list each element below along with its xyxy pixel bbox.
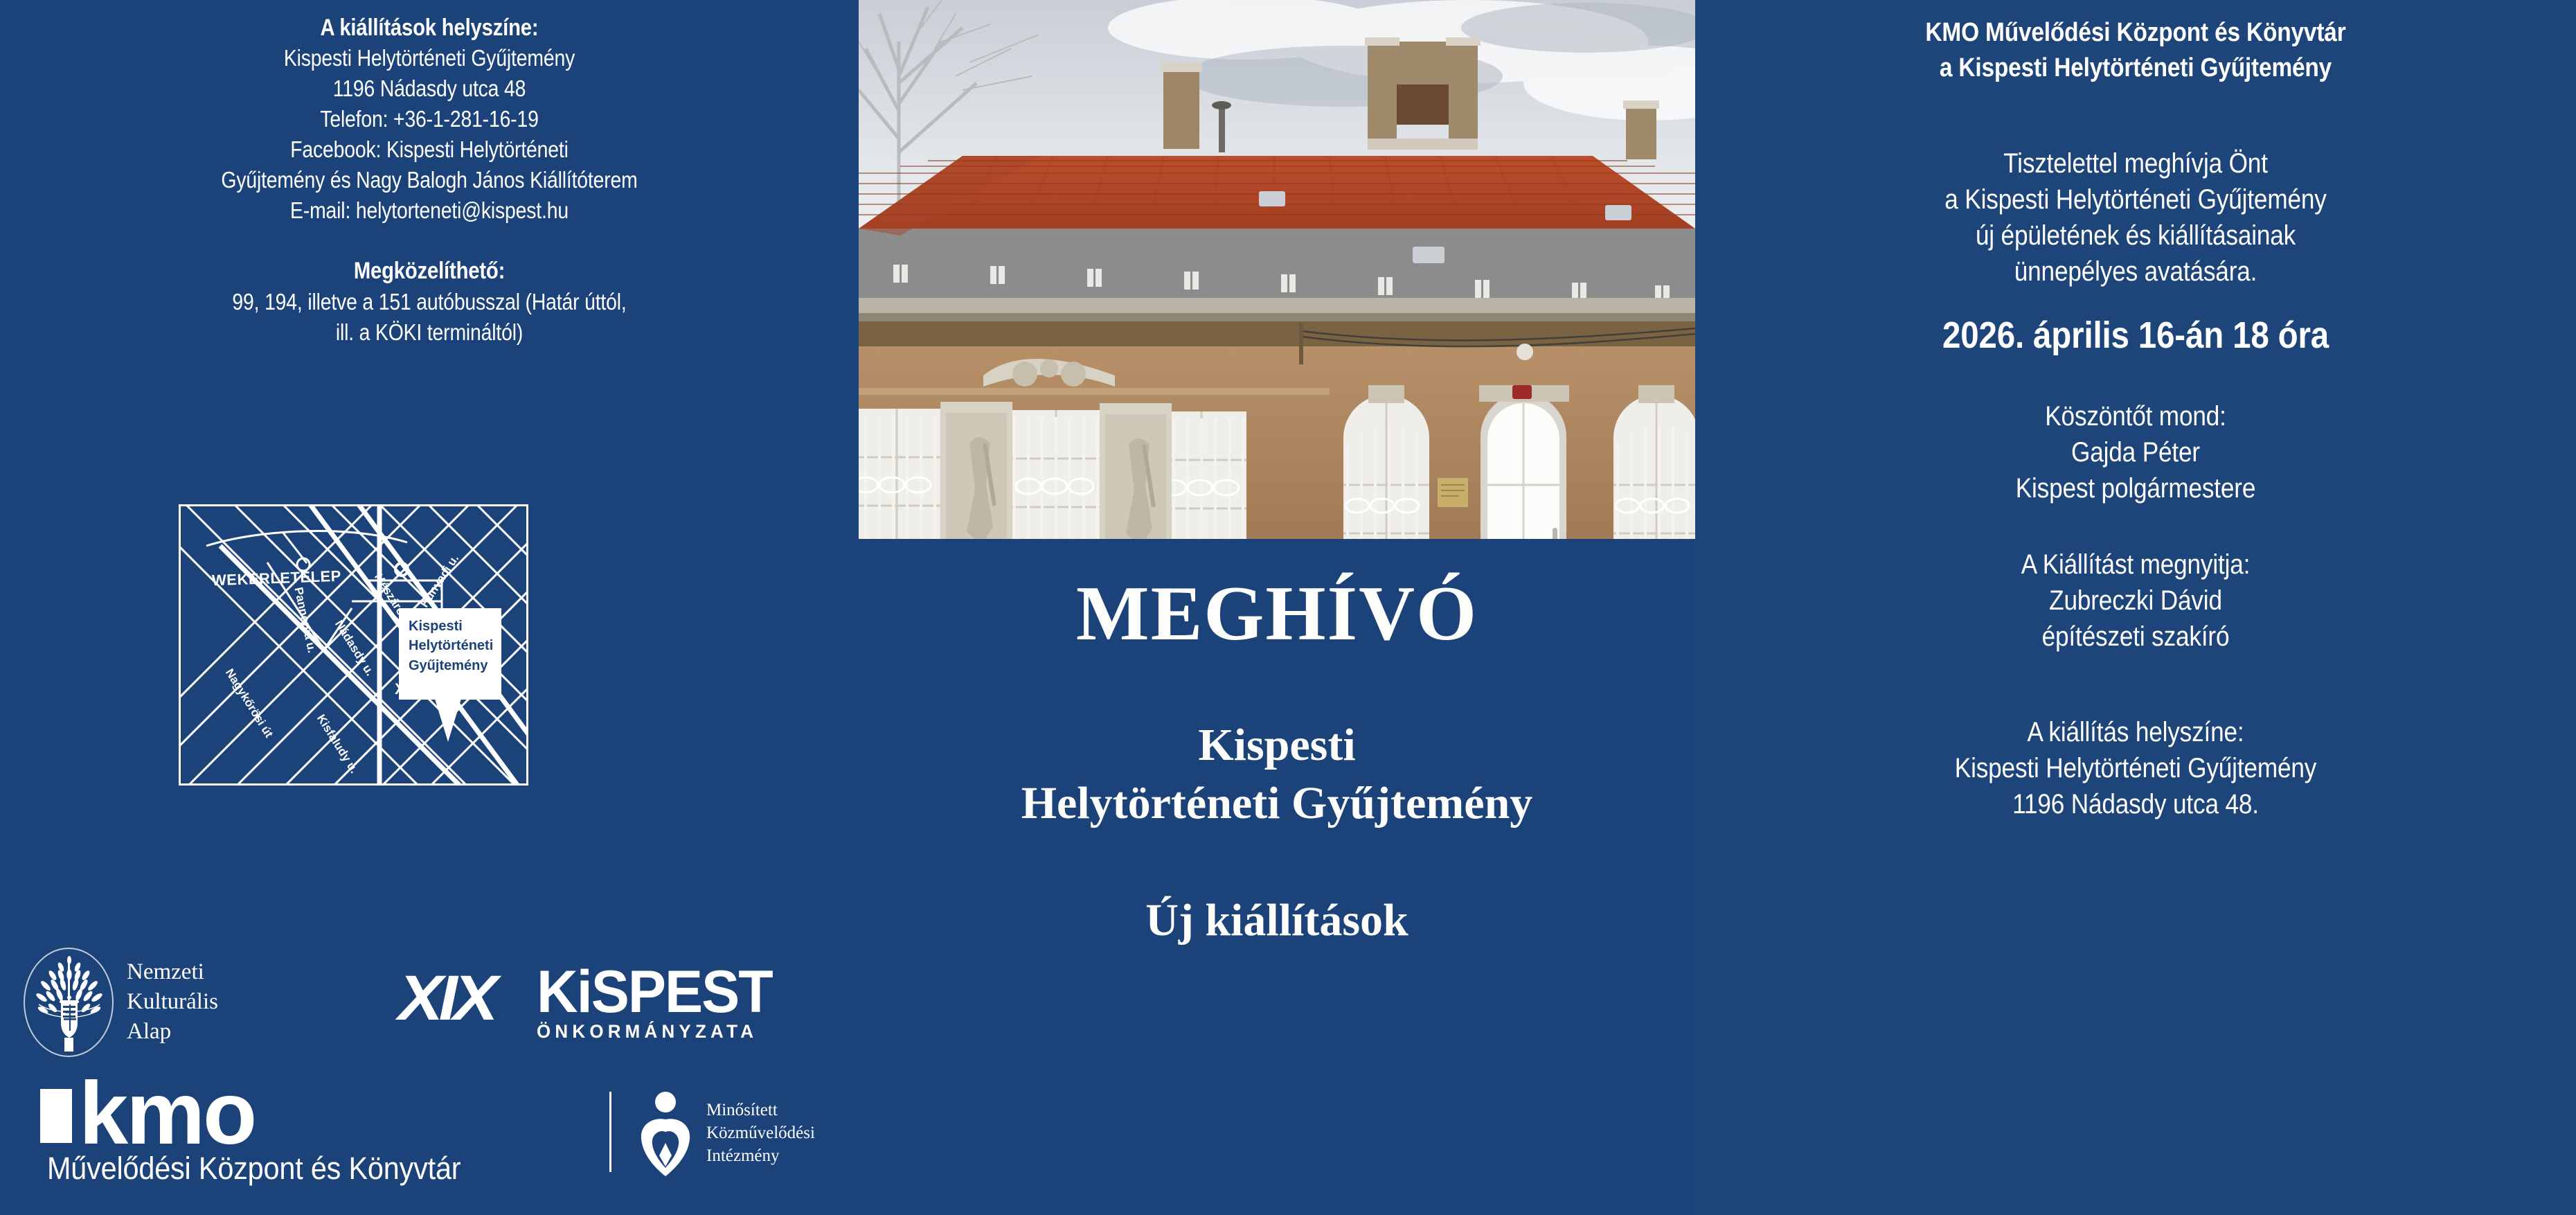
kmo-mark: kmo <box>79 1070 255 1158</box>
callout-line-3: Gyűjtemény <box>409 656 501 675</box>
minositett-line-2: Közművelődési <box>706 1121 815 1144</box>
invitation-poster: A kiállítások helyszíne: Kispesti Helytö… <box>0 0 2576 1215</box>
minositett-line-3: Intézmény <box>706 1144 815 1167</box>
nka-tree-icon <box>33 955 105 1052</box>
greeting-label: Köszöntőt mond: <box>1748 398 2523 434</box>
access-line-1: 99, 194, illetve a 151 autóbusszal (Hatá… <box>60 287 798 317</box>
venue-phone: Telefon: +36-1-281-16-19 <box>60 104 798 134</box>
nka-line-1: Nemzeti <box>127 957 218 987</box>
museum-name: Kispesti Helytörténeti Gyűjtemény <box>859 716 1695 833</box>
page-title: MEGHÍVÓ <box>859 575 1695 653</box>
spacer <box>1695 358 2576 398</box>
spacer <box>1695 290 2576 313</box>
map-callout: Kispesti Helytörténeti Gyűjtemény <box>399 608 501 700</box>
callout-tail <box>435 699 461 742</box>
kispest-sub: ÖNKORMÁNYZATA <box>537 1021 772 1043</box>
spacer <box>0 225 859 256</box>
opener-role: építészeti szakíró <box>1748 619 2523 655</box>
exhibition-venue-label: A kiállítás helyszíne: <box>1748 714 2523 750</box>
logo-kmo: kmo Művelődési Központ és Könyvtár <box>40 1081 580 1191</box>
kispest-name: KiSPEST <box>537 965 772 1020</box>
venue-facebook-2: Gyűjtemény és Nagy Balogh János Kiállító… <box>60 165 798 195</box>
minositett-wordmark: Minősített Közművelődési Intézmény <box>706 1099 815 1167</box>
museum-name-line-1: Kispesti <box>859 716 1695 774</box>
exhibition-venue-name: Kispesti Helytörténeti Gyűjtemény <box>1748 750 2523 786</box>
nka-line-3: Alap <box>127 1017 218 1047</box>
logo-minositett-kozmuvelodesi-intezmeny: Minősített Közművelődési Intézmény <box>609 1088 838 1191</box>
kispest-xix-mark: XIX <box>398 962 494 1035</box>
venue-line-2: 1196 Nádasdy utca 48 <box>60 73 798 104</box>
logo-kispest-onkormanyzat: XIX KiSPEST ÖNKORMÁNYZATA <box>398 966 758 1049</box>
exhibition-venue-address: 1196 Nádasdy utca 48. <box>1748 786 2523 822</box>
middle-text-block: MEGHÍVÓ Kispesti Helytörténeti Gyűjtemén… <box>859 575 1695 950</box>
spacer <box>1695 86 2576 145</box>
nka-wordmark: Nemzeti Kulturális Alap <box>127 957 218 1047</box>
venue-facebook-1: Facebook: Kispesti Helytörténeti <box>60 134 798 165</box>
callout-line-1: Kispesti <box>409 617 501 636</box>
access-line-2: ill. a KÖKI termináltól) <box>60 317 798 348</box>
organizer-line-1: KMO Művelődési Központ és Könyvtár <box>1748 15 2523 51</box>
invite-line-3: új épületének és kiállításainak <box>1748 218 2523 254</box>
access-heading: Megközelíthető: <box>60 256 798 286</box>
minositett-line-1: Minősített <box>706 1099 815 1121</box>
building-photo <box>859 0 1695 539</box>
venue-line-1: Kispesti Helytörténeti Gyűjtemény <box>60 43 798 73</box>
opener-name: Zubreczki Dávid <box>1748 583 2523 619</box>
person-figure-icon <box>636 1089 695 1178</box>
kispest-wordmark: KiSPEST ÖNKORMÁNYZATA <box>537 965 782 1043</box>
event-date: 2026. április 16-án 18 óra <box>1748 313 2523 358</box>
venue-email: E-mail: helytorteneti@kispest.hu <box>60 195 798 226</box>
nka-line-2: Kulturális <box>127 987 218 1017</box>
kmo-square-icon <box>40 1089 72 1143</box>
exhibition-subtitle: Új kiállítások <box>859 892 1695 950</box>
organizer-line-2: a Kispesti Helytörténeti Gyűjtemény <box>1748 51 2523 86</box>
right-content: KMO Művelődési Központ és Könyvtár a Kis… <box>1695 0 2576 822</box>
divider <box>609 1092 611 1172</box>
museum-name-line-2: Helytörténeti Gyűjtemény <box>859 774 1695 833</box>
greeting-name: Gajda Péter <box>1748 434 2523 470</box>
spacer <box>1695 506 2576 547</box>
opener-label: A Kiállítást megnyitja: <box>1748 547 2523 583</box>
invite-line-2: a Kispesti Helytörténeti Gyűjtemény <box>1748 181 2523 218</box>
kmo-sub: Művelődési Központ és Könyvtár <box>47 1153 460 1184</box>
logo-nemzeti-kulturalis-alap: Nemzeti Kulturális Alap <box>12 942 276 1060</box>
invite-line-4: ünnepélyes avatására. <box>1748 254 2523 290</box>
callout-line-2: Helytörténeti <box>409 636 501 655</box>
location-map: WEKERLETELEP Pannonia u. Mészáros u. Hun… <box>179 504 528 786</box>
venue-heading: A kiállítások helyszíne: <box>60 12 798 43</box>
building-photo-illustration <box>859 0 1695 539</box>
invite-line-1: Tisztelettel meghívja Önt <box>1748 145 2523 181</box>
left-content: A kiállítások helyszíne: Kispesti Helytö… <box>0 0 859 347</box>
spacer <box>1695 655 2576 714</box>
greeting-role: Kispest polgármestere <box>1748 470 2523 506</box>
